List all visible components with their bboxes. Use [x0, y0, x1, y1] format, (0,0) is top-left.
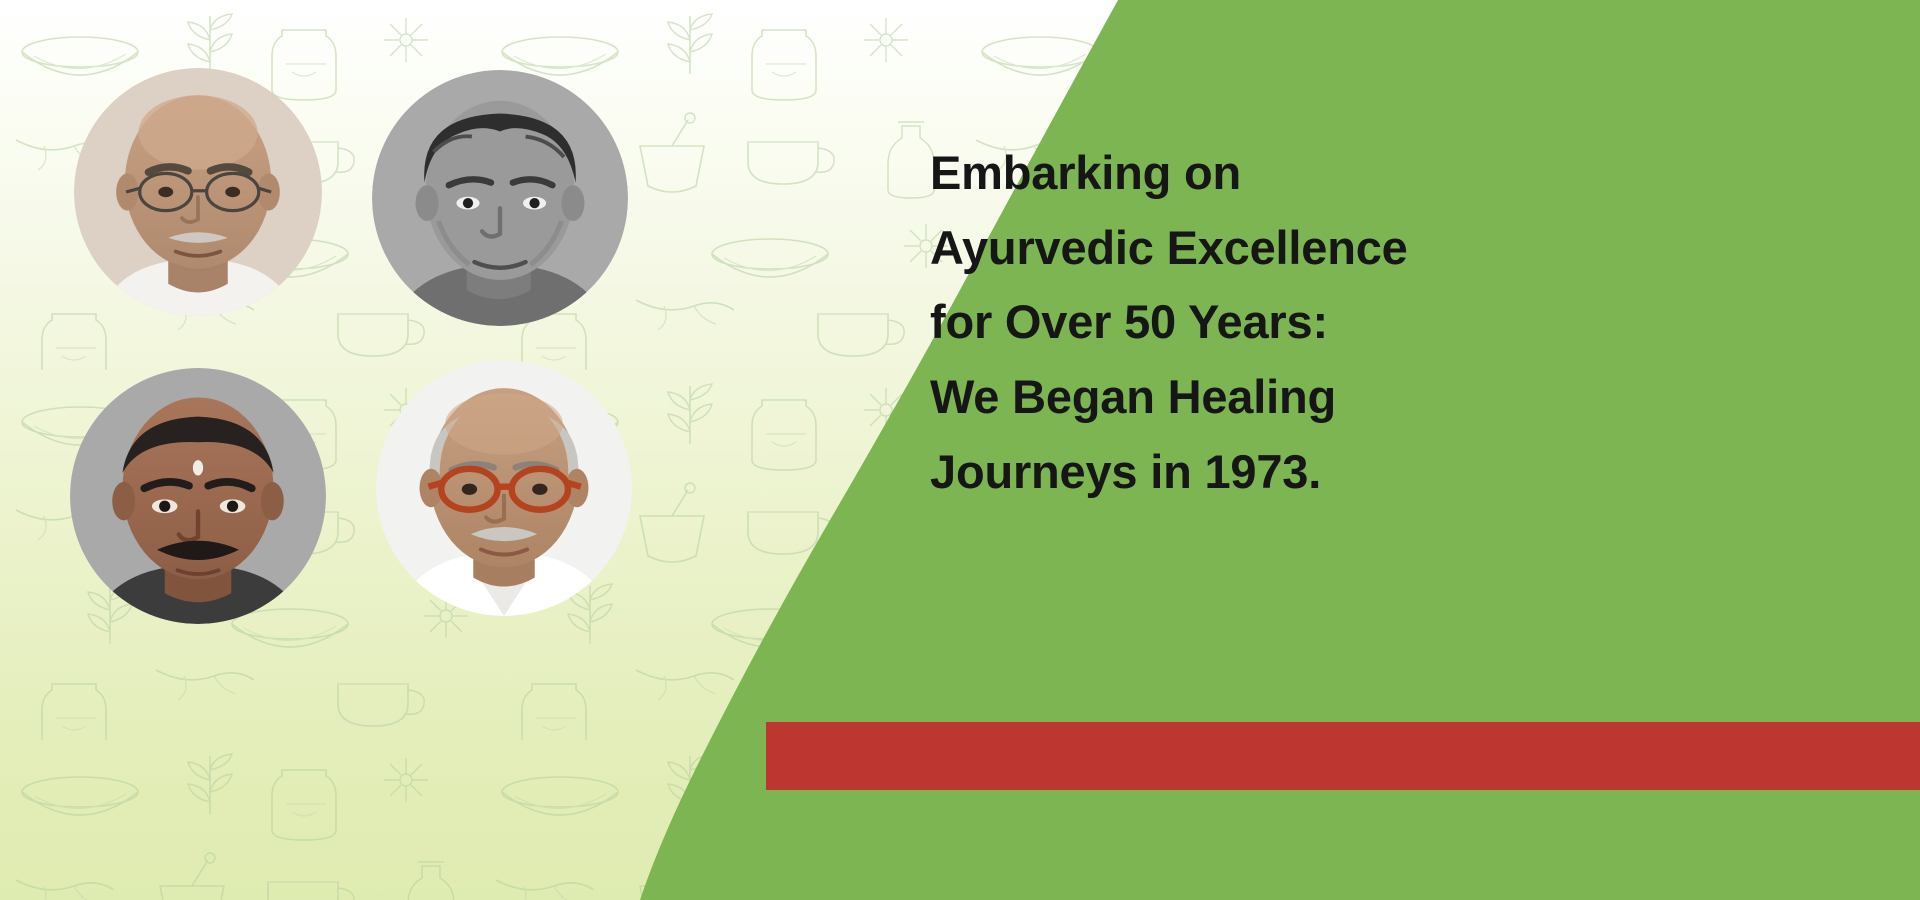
founder-portrait-3-image [70, 368, 326, 624]
headline-line-2: Ayurvedic Excellence [930, 211, 1870, 286]
founder-portrait-1 [74, 68, 322, 316]
red-accent-stripe [766, 722, 1920, 790]
founder-portrait-3 [70, 368, 326, 624]
headline-line-1: Embarking on [930, 136, 1870, 211]
headline-line-5: Journeys in 1973. [930, 435, 1870, 510]
headline-line-3: for Over 50 Years: [930, 285, 1870, 360]
founder-portrait-2-image [372, 70, 628, 326]
headline-line-4: We Began Healing [930, 360, 1870, 435]
about-us-hero-banner: Embarking on Ayurvedic Excellence for Ov… [0, 0, 1920, 900]
founder-portrait-1-image [74, 68, 322, 316]
founder-portrait-4-image [376, 360, 632, 616]
founder-portrait-4 [376, 360, 632, 616]
banner-headline: Embarking on Ayurvedic Excellence for Ov… [930, 136, 1870, 510]
founder-portrait-2 [372, 70, 628, 326]
